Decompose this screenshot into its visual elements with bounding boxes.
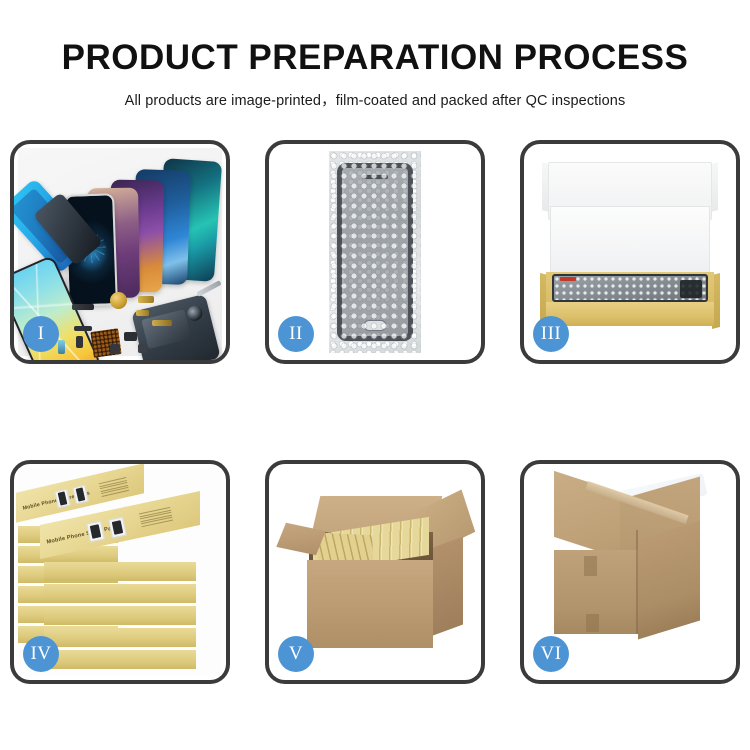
flex-cable-part-b [136, 310, 149, 316]
kraft-box-front-wall [546, 302, 714, 326]
vibrator-motor-part [110, 344, 120, 354]
camera-module-part [76, 336, 83, 348]
carton-front-face [307, 560, 433, 648]
kraft-box-face [44, 584, 196, 603]
phone-screen-glass [337, 163, 413, 341]
step-badge-4: IV [23, 636, 59, 672]
page-header: PRODUCT PREPARATION PROCESS All products… [0, 0, 750, 110]
step-panel-5[interactable]: V [265, 460, 485, 684]
battery-connector-part [124, 332, 137, 341]
bubble-wrap-sheet [329, 151, 421, 353]
step-badge-1: I [23, 316, 59, 352]
step-panel-1[interactable]: I [10, 140, 230, 364]
process-steps-grid: I II III [10, 140, 740, 684]
speaker-coil-part [110, 292, 127, 309]
step-panel-6[interactable]: VI [520, 460, 740, 684]
kraft-box-face [44, 562, 196, 581]
screw-set-part [138, 344, 147, 353]
kraft-box-face [44, 650, 196, 669]
step-badge-3: III [533, 316, 569, 352]
carton-notch-upper [584, 556, 597, 576]
step-panel-3[interactable]: III [520, 140, 740, 364]
button-flex-part [74, 326, 92, 331]
step-panel-2[interactable]: II [265, 140, 485, 364]
red-label-sticker [560, 277, 576, 281]
carton-corner-seam [636, 530, 638, 634]
antenna-flex-part [152, 320, 172, 326]
step-panel-4[interactable]: Mobile Phone Spare Parts Mobile Phone Sp… [10, 460, 230, 684]
carton-side-face [433, 537, 463, 636]
step-badge-2: II [278, 316, 314, 352]
kraft-box-face [44, 606, 196, 625]
step-badge-6: VI [533, 636, 569, 672]
page-subtitle: All products are image-printed，film-coat… [0, 78, 750, 110]
flex-cable-part-a [138, 296, 154, 303]
step-badge-5: V [278, 636, 314, 672]
kraft-box-face [44, 628, 196, 647]
sim-tray-part [58, 340, 65, 354]
page-title: PRODUCT PREPARATION PROCESS [0, 0, 750, 78]
carton-notch-lower [586, 614, 599, 632]
connector-strip-part [72, 304, 94, 310]
carton-side-face [638, 521, 700, 640]
foam-insert [550, 206, 710, 280]
